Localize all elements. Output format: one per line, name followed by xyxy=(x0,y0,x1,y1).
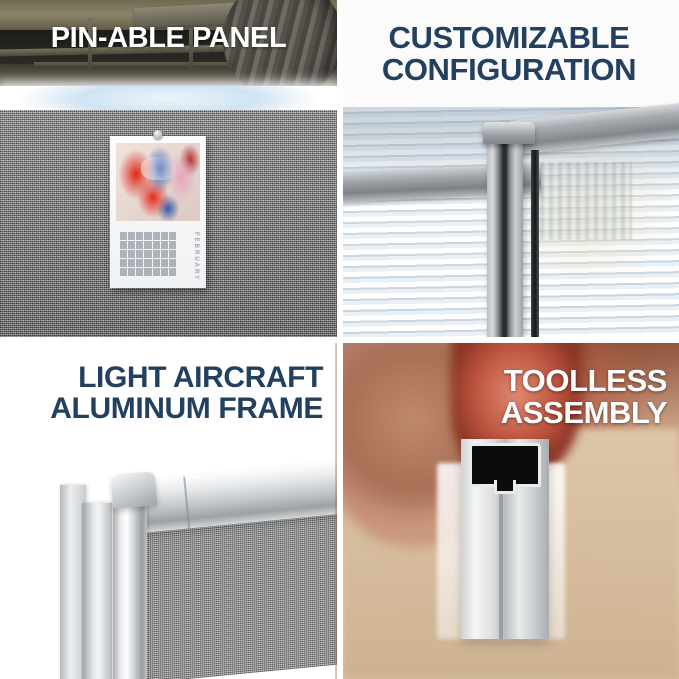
aluminum-post xyxy=(82,503,112,679)
panel-toolless-assembly: TOOLLESS ASSEMBLY xyxy=(343,343,679,679)
extrusion-slot xyxy=(499,489,503,639)
pinned-calendar: FEBRUARY xyxy=(110,136,206,288)
exterior-building xyxy=(531,162,632,240)
aluminum-post xyxy=(113,495,147,679)
calendar-month-label: FEBRUARY xyxy=(193,232,199,281)
caption-toolless-assembly: TOOLLESS ASSEMBLY xyxy=(357,365,667,428)
aluminum-post xyxy=(487,138,523,337)
calendar-date-grid xyxy=(120,232,176,276)
caption-pin-able-panel: PIN-ABLE PANEL xyxy=(0,24,337,54)
frame-corner-joint xyxy=(111,471,158,509)
fluorescent-light-strip xyxy=(0,86,337,112)
feature-grid: FEBRUARY PIN-ABLE PANEL CUSTOMIZABLE CON… xyxy=(0,0,679,679)
panel-customizable-configuration: CUSTOMIZABLE CONFIGURATION xyxy=(343,0,679,337)
caption-customizable-configuration: CUSTOMIZABLE CONFIGURATION xyxy=(353,22,665,85)
panel-pin-able-panel: FEBRUARY PIN-ABLE PANEL xyxy=(0,0,337,337)
caption-light-aircraft-aluminum-frame: LIGHT AIRCRAFT ALUMINUM FRAME xyxy=(16,363,323,424)
post-cap xyxy=(483,122,535,144)
calendar-artwork xyxy=(116,143,200,221)
glass-mullion xyxy=(531,150,539,337)
panel-edge-shadow xyxy=(335,343,337,679)
extrusion-channel xyxy=(469,443,541,487)
panel-light-aircraft-aluminum-frame: LIGHT AIRCRAFT ALUMINUM FRAME xyxy=(0,343,337,679)
push-pin-icon xyxy=(154,130,163,139)
